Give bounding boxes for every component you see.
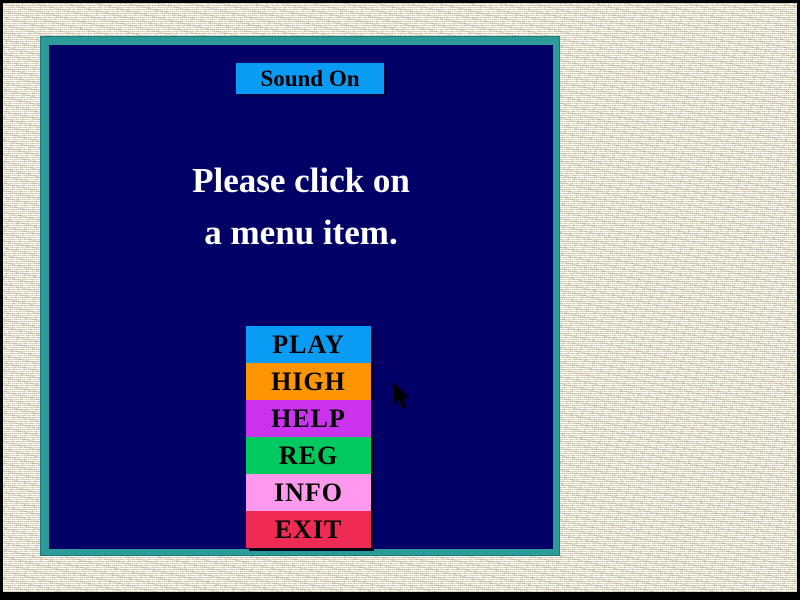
game-screen: Sound On Please click on a menu item. PL… [0, 0, 800, 600]
main-menu: PLAY HIGH HELP REG INFO EXIT [246, 326, 371, 548]
menu-item-play[interactable]: PLAY [246, 326, 371, 363]
bottom-black-band [0, 592, 800, 600]
instruction-line-1: Please click on [49, 155, 553, 207]
menu-item-info[interactable]: INFO [246, 474, 371, 511]
menu-item-reg[interactable]: REG [246, 437, 371, 474]
arrow-pointer-icon [394, 383, 412, 411]
application-panel: Sound On Please click on a menu item. PL… [40, 36, 560, 556]
instruction-line-2: a menu item. [49, 207, 553, 259]
menu-item-help[interactable]: HELP [246, 400, 371, 437]
menu-item-exit[interactable]: EXIT [246, 511, 371, 548]
sound-toggle-button[interactable]: Sound On [236, 63, 384, 94]
instruction-message: Please click on a menu item. [49, 155, 553, 259]
application-panel-inner: Sound On Please click on a menu item. PL… [49, 45, 553, 549]
menu-item-high[interactable]: HIGH [246, 363, 371, 400]
